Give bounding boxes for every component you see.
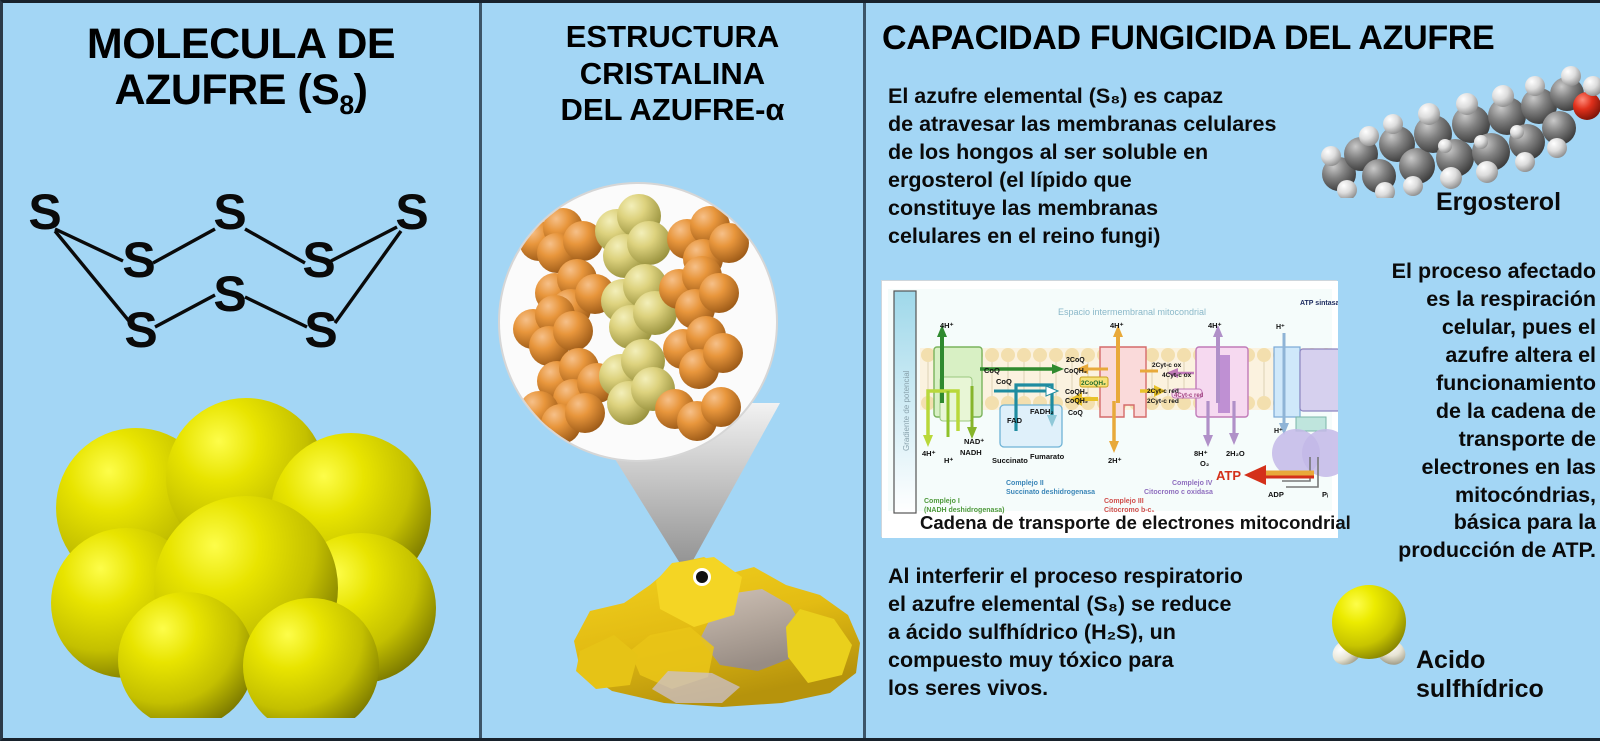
label-o2: O₂ [1200, 459, 1209, 468]
label-h2s-line-2: sulfhídrico [1416, 675, 1544, 703]
label-atp: ATP [1216, 468, 1241, 483]
label-nad: NAD⁺ [964, 437, 984, 446]
label-h-matrix: H⁺ [944, 456, 953, 465]
label-2cytc-red-b: 2Cyt-c red [1147, 398, 1179, 405]
label-hydrogen-sulfide: Acido sulfhídrico [1416, 646, 1544, 703]
caption-complex-iv-sub: Citocromo c oxidasa [1144, 489, 1213, 496]
label-coqh2-c: CoQH₂ [1065, 398, 1088, 405]
label-fad: FAD [1007, 416, 1023, 425]
label-ergosterol: Ergosterol [1436, 188, 1561, 217]
label-4h-complex1: 4H⁺ [940, 321, 954, 330]
label-coqh2-b: CoQH₂ [1065, 389, 1088, 396]
title-line-2: AZUFRE (S8) [115, 66, 368, 114]
label-2coq: 2CoQ [1066, 357, 1085, 364]
label-coq-1: CoQ [984, 366, 1000, 375]
sulfur-atom-4: S [302, 232, 335, 288]
label-coq-2: CoQ [996, 377, 1012, 386]
label-succinato: Succinato [992, 456, 1028, 465]
oxygen-atom [1573, 92, 1600, 120]
crystal-title-line-1: ESTRUCTURA [566, 19, 780, 54]
ergosterol-molecule-model [1321, 58, 1600, 198]
gradient-axis-label: Gradiente de potencial [902, 370, 911, 451]
sulfur-atom-8: S [304, 302, 337, 358]
label-h-atpsynthase-bottom: H⁺ [1274, 428, 1283, 435]
sulfur-atom-1: S [28, 184, 61, 240]
sulfur-atom-3: S [213, 184, 246, 240]
sulfur-atom-5: S [395, 184, 428, 240]
paragraph-hydrogen-sulfide: Al interferir el proceso respiratorio el… [888, 563, 1308, 703]
label-atp-sintasa: ATP sintasa [1300, 300, 1338, 307]
caption-complex-iv: Complejo IV [1172, 480, 1213, 487]
paragraph-membrane-permeability: El azufre elemental (S₈) es capaz de atr… [888, 83, 1328, 251]
label-h2s-line-1: Acido [1416, 646, 1485, 674]
label-h-atpsynthase-top: H⁺ [1276, 324, 1285, 331]
etc-diagram-svg: Gradiente de potencial [882, 281, 1338, 538]
paragraph-cellular-respiration: El proceso afectado es la respiración ce… [1321, 258, 1596, 565]
title-line-1: MOLECULA DE [87, 20, 395, 68]
s8-space-filling-model [21, 388, 441, 718]
panel-sulfur-molecule: MOLECULA DE AZUFRE (S8) S S S S S S [3, 3, 479, 738]
label-fumarato: Fumarato [1030, 452, 1065, 461]
label-fadh2: FADH₂ [1030, 407, 1054, 416]
panel-crystal-title: ESTRUCTURA CRISTALINA DEL AZUFRE-α [482, 19, 863, 129]
panel-fungicidal-capacity: CAPACIDAD FUNGICIDA DEL AZUFRE El azufre… [866, 3, 1600, 738]
electron-transport-chain-figure: Gradiente de potencial [881, 280, 1337, 537]
sulfur-atom-center [1332, 585, 1406, 659]
sulfur-atom-spheres [51, 398, 436, 718]
panel-fungicide-title: CAPACIDAD FUNGICIDA DEL AZUFRE [882, 19, 1494, 58]
panel-crystal-structure: ESTRUCTURA CRISTALINA DEL AZUFRE-α [482, 3, 863, 738]
intermembrane-space-label: Espacio intermembranal mitocondrial [1058, 307, 1206, 317]
label-8h: 8H⁺ [1194, 449, 1208, 458]
label-coqh2-a: CoQH₂ [1064, 368, 1087, 375]
lattice-atom-cluster [513, 194, 749, 444]
label-4h-complex4: 4H⁺ [1208, 321, 1222, 330]
caption-complex-ii: Complejo II [1006, 480, 1044, 487]
sulfur-atom-2: S [122, 232, 155, 288]
label-pi: Pᵢ [1322, 490, 1328, 499]
infographic-poster: MOLECULA DE AZUFRE (S8) S S S S S S [0, 0, 1600, 741]
panel-molecule-title: MOLECULA DE AZUFRE (S8) [3, 21, 479, 120]
label-coq-3: CoQ [1068, 410, 1083, 417]
label-4cytc-red: 4Cyt-c red [1174, 393, 1204, 399]
magnifier-focus-dot [696, 571, 708, 583]
sulfur-crystal-mass [574, 557, 860, 707]
etc-figure-caption: Cadena de transporte de electrones mitoc… [920, 512, 1351, 534]
label-2cytc-ox: 2Cyt-c ox [1152, 362, 1182, 369]
label-2coqh2: 2CoQH₂ [1081, 380, 1106, 387]
label-adp: ADP [1268, 490, 1284, 499]
label-4h-matrix1: 4H⁺ [922, 449, 936, 458]
label-4h-complex3: 4H⁺ [1110, 321, 1124, 330]
caption-complex-ii-sub: Succinato deshidrogenasa [1006, 489, 1095, 496]
crystal-title-line-3: DEL AZUFRE-α [561, 92, 785, 127]
caption-complex-iii: Complejo III [1104, 498, 1144, 505]
label-2h2o: 2H₂O [1226, 449, 1245, 458]
s8-ring-structure-diagram: S S S S S S S S [19, 181, 463, 361]
crystal-title-line-2: CRISTALINA [580, 56, 765, 91]
crystal-lattice-magnifier [497, 181, 780, 464]
label-2h-matrix: 2H⁺ [1108, 456, 1122, 465]
hydrogen-sulfide-molecule-model [1321, 578, 1426, 673]
native-sulfur-mineral-photo [572, 523, 863, 723]
caption-complex-i: Complejo I [924, 498, 960, 505]
sulfur-atom-6: S [124, 302, 157, 358]
label-4cytc-ox: 4Cyt-c ox [1162, 372, 1192, 379]
label-nadh: NADH [960, 448, 982, 457]
sulfur-atom-7: S [213, 266, 246, 322]
